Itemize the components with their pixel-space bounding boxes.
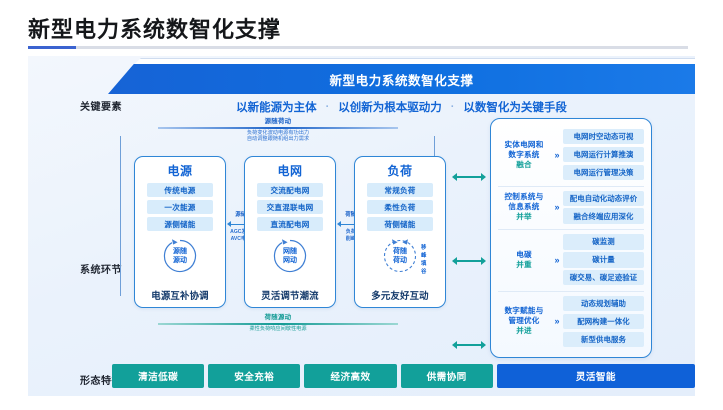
capability-row-control-information[interactable]: 控制系统与 信息系统 并举 » 配电自动化动态评价 融合终端应用深化: [498, 186, 644, 228]
diagram-stage: 新型电力系统数智化支撑 以新能源为主体 · 以创新为根本驱动力 · 以数智化为关…: [28, 56, 695, 396]
bridge-arrow-2: [452, 256, 486, 265]
capability-row-3-title-line1: 电碳: [498, 250, 550, 260]
arrow-line: [456, 260, 482, 262]
capability-row-4-title-line3: 并进: [498, 326, 550, 336]
left-rail: [120, 136, 121, 296]
pillar-grid-title: 电网: [277, 162, 302, 179]
arrow-head-right-icon: [481, 341, 486, 349]
chip-conventional-load[interactable]: 常规负荷: [367, 183, 433, 197]
flow-top-label: 源随荷动: [158, 118, 398, 126]
cycle-load-side2: 填谷: [421, 260, 426, 276]
flow-bottom-sub1: 柔性负荷响应间歇性电源: [158, 326, 398, 332]
cycle-load-side1: 移峰: [421, 244, 426, 260]
flow-bottom-bar: [158, 323, 398, 325]
cycle-load-label: 荷随 荷动: [381, 237, 419, 275]
capability-item[interactable]: 碳监测: [563, 234, 644, 249]
chip-load-storage[interactable]: 荷侧储能: [367, 217, 433, 231]
flow-top-sub2: 自动调整跟随机组出力需求: [158, 136, 398, 142]
capability-row-4-items: 动态规划辅助 配网构建一体化 新型供电服务: [563, 296, 644, 347]
capability-item[interactable]: 电网时空动态可视: [563, 129, 644, 144]
pillar-load[interactable]: 负荷 常规负荷 柔性负荷 荷侧储能 荷随 荷动 移峰: [354, 156, 446, 308]
capability-row-1-items: 电网时空动态可视 电网运行计算推演 电网运行管理决策: [563, 129, 644, 180]
cycle-load-line2: 荷动: [393, 256, 407, 265]
flow-load-follows-source: 荷随源动 柔性负荷响应间歇性电源: [158, 314, 398, 332]
banner-shape: 新型电力系统数智化支撑: [108, 64, 695, 94]
capability-item[interactable]: 动态规划辅助: [563, 296, 644, 311]
row-label-key-factors: 关键要素: [80, 98, 122, 113]
three-pillar-diagram: 源随荷动 负荷变化波动电源有功出力 自动调整跟随机组出力需求 电源 传统电源 一…: [112, 118, 444, 358]
banner: 新型电力系统数智化支撑: [108, 64, 695, 94]
arrow-head-right-icon: [481, 257, 486, 265]
pillar-grid-footer: 灵活调节潮流: [245, 288, 335, 302]
capability-item[interactable]: 配电自动化动态评价: [563, 191, 644, 206]
cycle-grid-follows-grid: 网随 网动: [271, 237, 309, 275]
chip-source-storage[interactable]: 源侧储能: [147, 217, 213, 231]
chip-primary-energy[interactable]: 一次能源: [147, 200, 213, 214]
key-element-1: 以创新为根本驱动力: [338, 99, 442, 115]
arrow-head-right-icon: [481, 173, 486, 181]
title-rule: [28, 46, 688, 49]
cycle-load-side-labels: 移峰 填谷: [421, 244, 426, 276]
capability-item[interactable]: 电网运行计算推演: [563, 147, 644, 162]
chip-ac-dc-hybrid[interactable]: 交直混联电网: [257, 200, 323, 214]
key-element-2: 以数智化为关键手段: [463, 99, 567, 115]
capability-item[interactable]: 配网构建一体化: [563, 314, 644, 329]
capability-row-4-title: 数字赋能与 管理优化 并进: [498, 306, 550, 336]
flow-top-bar: [158, 127, 398, 129]
capability-row-3-title: 电碳 并重: [498, 250, 550, 270]
capability-item[interactable]: 新型供电服务: [563, 332, 644, 347]
pillar-power-source[interactable]: 电源 传统电源 一次能源 源侧储能 源随 源动 电源互补协调: [134, 156, 226, 308]
capability-row-1-title: 实体电网和 数字系统 融合: [498, 140, 550, 170]
cycle-source-line2: 源动: [173, 256, 187, 265]
title-rule-accent: [28, 46, 76, 49]
bridge-arrow-1: [452, 172, 486, 181]
cycle-source-line1: 源随: [173, 247, 187, 256]
cycle-grid-label: 网随 网动: [271, 237, 309, 275]
capability-item[interactable]: 碳计量: [563, 252, 644, 267]
pillar-load-title: 负荷: [387, 162, 412, 179]
capability-row-2-title-line1: 控制系统与: [498, 192, 550, 202]
chevron-right-icon: »: [550, 255, 563, 265]
capability-row-1-title-line2: 数字系统: [498, 150, 550, 160]
capability-row-2-title-line2: 信息系统: [498, 202, 550, 212]
key-separator-0: ·: [326, 101, 330, 113]
form-feature-supply-demand[interactable]: 供需协同: [401, 364, 493, 388]
capability-row-4-title-line2: 管理优化: [498, 316, 550, 326]
banner-title: 新型电力系统数智化支撑: [329, 70, 473, 89]
cycle-load-follows-load: 荷随 荷动 移峰 填谷: [381, 237, 419, 275]
pillar-power-source-title: 电源: [167, 162, 192, 179]
chip-ac-distribution[interactable]: 交流配电网: [257, 183, 323, 197]
capability-row-digital-enablement[interactable]: 数字赋能与 管理优化 并进 » 动态规划辅助 配网构建一体化 新型供电服务: [498, 291, 644, 351]
chevron-right-icon: »: [550, 316, 563, 326]
flow-source-follows-load: 源随荷动 负荷变化波动电源有功出力 自动调整跟随机组出力需求: [158, 118, 398, 143]
cycle-source-follows-source: 源随 源动: [161, 237, 199, 275]
capability-panel: 实体电网和 数字系统 融合 » 电网时空动态可视 电网运行计算推演 电网运行管理…: [490, 118, 652, 358]
key-element-0: 以新能源为主体: [236, 99, 317, 115]
capability-item[interactable]: 碳交易、碳足迹验证: [563, 270, 644, 285]
form-feature-economic-efficient[interactable]: 经济高效: [304, 364, 396, 388]
capability-row-3-items: 碳监测 碳计量 碳交易、碳足迹验证: [563, 234, 644, 285]
capability-item[interactable]: 电网运行管理决策: [563, 165, 644, 180]
capability-row-3-title-line2: 并重: [498, 260, 550, 270]
chip-dc-distribution[interactable]: 直流配电网: [257, 217, 323, 231]
flow-bottom-label: 荷随源动: [158, 314, 398, 322]
capability-row-2-title: 控制系统与 信息系统 并举: [498, 192, 550, 222]
cycle-source-label: 源随 源动: [161, 237, 199, 275]
key-elements-row: 以新能源为主体 · 以创新为根本驱动力 · 以数智化为关键手段: [108, 96, 695, 118]
page-title: 新型电力系统数智化支撑: [28, 12, 281, 44]
cycle-grid-line2: 网动: [283, 256, 297, 265]
chip-flexible-load[interactable]: 柔性负荷: [367, 200, 433, 214]
pillar-power-source-footer: 电源互补协调: [135, 288, 225, 302]
form-feature-clean-low-carbon[interactable]: 清洁低碳: [112, 364, 204, 388]
cycle-grid-line1: 网随: [283, 247, 297, 256]
cycle-load-line1: 荷随: [393, 247, 407, 256]
capability-row-1-title-line1: 实体电网和: [498, 140, 550, 150]
slide-root: 新型电力系统数智化支撑 新型电力系统数智化支撑 以新能源为主体 · 以创新为根本…: [0, 0, 723, 410]
form-features-bar: 清洁低碳 安全充裕 经济高效 供需协同 灵活智能: [112, 364, 695, 388]
key-separator-1: ·: [451, 101, 455, 113]
capability-row-2-title-line3: 并举: [498, 212, 550, 222]
capability-row-2-items: 配电自动化动态评价 融合终端应用深化: [563, 191, 644, 224]
chip-traditional-power[interactable]: 传统电源: [147, 183, 213, 197]
bridge-arrow-3: [452, 340, 486, 349]
form-feature-safe-sufficient[interactable]: 安全充裕: [208, 364, 300, 388]
form-feature-flexible-intelligent[interactable]: 灵活智能: [497, 364, 695, 388]
arrow-line: [456, 344, 482, 346]
pillar-load-footer: 多元友好互动: [355, 288, 445, 302]
chevron-right-icon: »: [550, 202, 563, 212]
arrow-line: [456, 176, 482, 178]
capability-row-physical-digital-fusion[interactable]: 实体电网和 数字系统 融合 » 电网时空动态可视 电网运行计算推演 电网运行管理…: [498, 125, 644, 184]
chevron-right-icon: »: [550, 150, 563, 160]
pillar-grid[interactable]: 电网 交流配电网 交直混联电网 直流配电网 网随 网动 灵活调节潮流: [244, 156, 336, 308]
capability-row-electricity-carbon[interactable]: 电碳 并重 » 碳监测 碳计量 碳交易、碳足迹验证: [498, 229, 644, 289]
capability-item[interactable]: 融合终端应用深化: [563, 208, 644, 223]
capability-row-4-title-line1: 数字赋能与: [498, 306, 550, 316]
capability-row-1-title-line3: 融合: [498, 160, 550, 170]
